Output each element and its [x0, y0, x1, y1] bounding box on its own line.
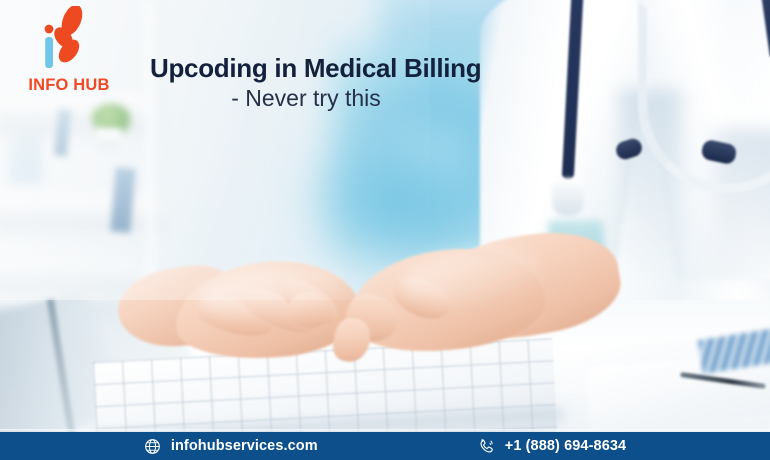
headline-block: Upcoding in Medical Billing - Never try … [150, 54, 550, 111]
logo[interactable]: INFO HUB [14, 6, 124, 98]
blog-banner: INFO HUB Upcoding in Medical Billing - N… [0, 0, 770, 460]
website-contact[interactable]: infohubservices.com [144, 437, 318, 455]
blurred-shelf-bottom [0, 262, 140, 292]
stethoscope-chestpiece [552, 178, 584, 216]
contact-footer-bar: infohubservices.com +1 (888) 694-8634 [0, 432, 770, 460]
blurred-shelf-middle [0, 196, 165, 230]
headline-title: Upcoding in Medical Billing [150, 54, 550, 83]
phone-label: +1 (888) 694-8634 [505, 438, 626, 454]
infohub-butterfly-logo-icon [36, 6, 98, 72]
blurred-wall-edge [146, 0, 164, 300]
headline-subtitle: - Never try this [150, 86, 550, 111]
phone-contact[interactable]: +1 (888) 694-8634 [478, 437, 626, 455]
logo-wordmark: INFO HUB [14, 76, 124, 95]
blurred-plant-pot [96, 128, 122, 150]
globe-icon [144, 437, 162, 455]
phone-icon [478, 437, 496, 455]
website-label: infohubservices.com [171, 438, 318, 454]
blurred-window-glow-inner [300, 140, 470, 260]
